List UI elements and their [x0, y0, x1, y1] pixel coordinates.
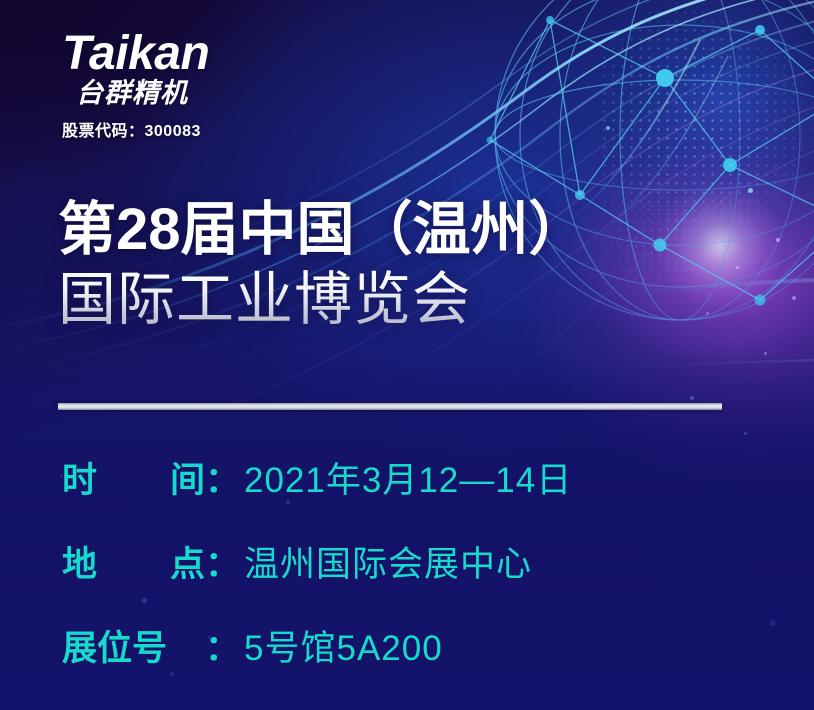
- detail-colon-venue: ：: [205, 536, 240, 587]
- detail-row-date: 时 间 ： 2021年3月12—14日: [62, 452, 762, 503]
- detail-label-venue: 地 点: [62, 544, 205, 586]
- detail-row-booth: 展位号 ： 5号馆5A200: [62, 620, 762, 671]
- brand-logo: Taikan 台群精机 股票代码：300083: [62, 30, 362, 141]
- brand-wordmark: Taikan: [62, 30, 362, 78]
- event-title-line-2: 国际工业博览会: [58, 267, 758, 334]
- detail-value-date: 2021年3月12—14日: [244, 460, 572, 502]
- stock-code: 股票代码：300083: [62, 117, 362, 141]
- event-details: 时 间 ： 2021年3月12—14日 地 点 ： 温州国际会展中心 展位号 ：…: [62, 452, 762, 671]
- detail-value-venue: 温州国际会展中心: [244, 544, 532, 586]
- detail-colon-date: ：: [205, 452, 240, 503]
- detail-value-booth: 5号馆5A200: [244, 628, 443, 670]
- detail-row-venue: 地 点 ： 温州国际会展中心: [62, 536, 762, 587]
- brand-wordmark-chinese: 台群精机: [76, 80, 362, 107]
- event-title: 第28届中国（温州） 国际工业博览会: [58, 198, 758, 334]
- exhibition-banner: Taikan 台群精机 股票代码：300083 第28届中国（温州） 国际工业博…: [0, 0, 814, 710]
- detail-label-date: 时 间: [62, 460, 205, 502]
- detail-label-booth: 展位号: [62, 628, 205, 670]
- horizontal-divider: [58, 403, 722, 410]
- detail-colon-booth: ：: [205, 620, 240, 671]
- event-title-line-1: 第28届中国（温州）: [58, 198, 758, 263]
